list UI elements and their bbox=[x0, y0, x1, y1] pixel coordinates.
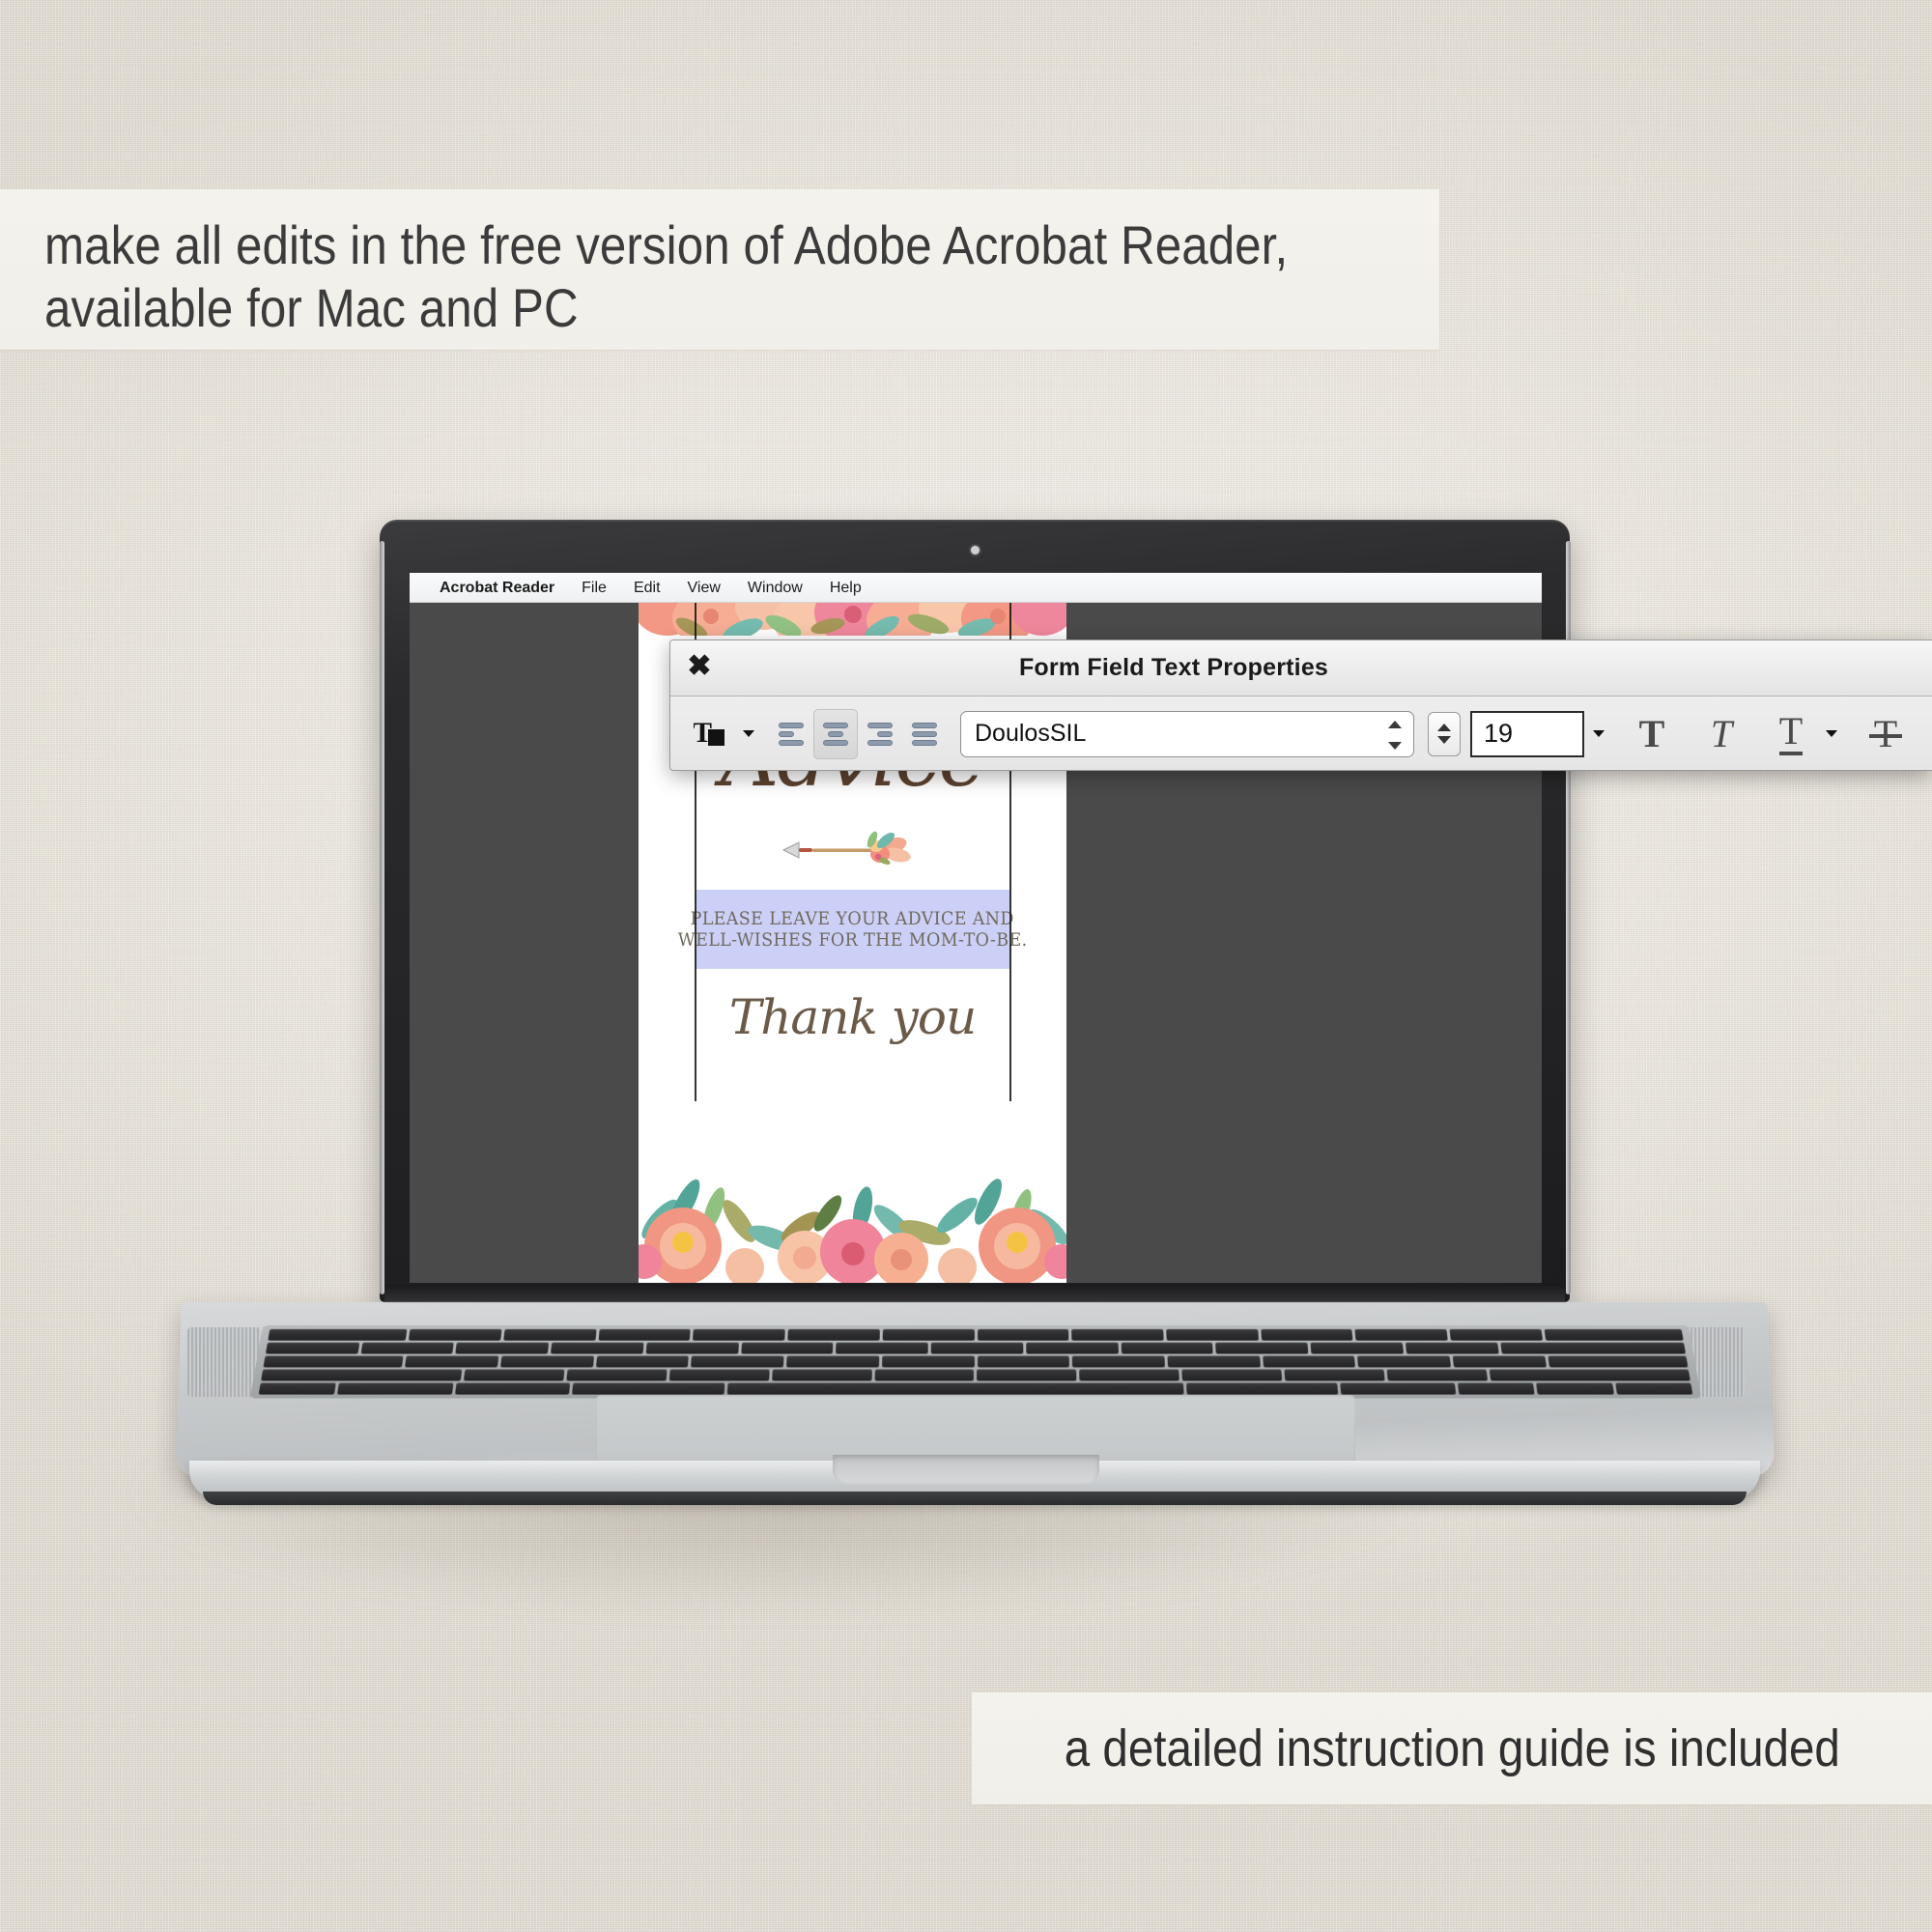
font-size-value: 19 bbox=[1484, 719, 1513, 749]
menu-item-edit[interactable]: Edit bbox=[620, 573, 674, 603]
menu-item-file[interactable]: File bbox=[568, 573, 620, 603]
top-caption-line-1: make all edits in the free version of Ad… bbox=[44, 214, 1272, 277]
menu-item-view[interactable]: View bbox=[674, 573, 734, 603]
text-properties-icon[interactable]: T bbox=[684, 709, 736, 759]
chevron-down-icon bbox=[1826, 730, 1837, 737]
chevron-down-icon bbox=[1593, 730, 1605, 737]
pdf-form-field-advice[interactable]: PLEASE LEAVE YOUR ADVICE AND WELL-WISHES… bbox=[696, 890, 1009, 969]
align-right-button[interactable] bbox=[858, 709, 902, 759]
align-center-icon bbox=[823, 723, 848, 746]
top-caption-banner: make all edits in the free version of Ad… bbox=[0, 189, 1439, 350]
italic-icon: T bbox=[1711, 711, 1732, 756]
form-field-line-2: WELL-WISHES FOR THE MOM-TO-BE. bbox=[678, 929, 1028, 951]
align-justify-icon bbox=[912, 723, 937, 746]
font-size-stepper[interactable] bbox=[1428, 712, 1461, 756]
menu-item-window[interactable]: Window bbox=[734, 573, 816, 603]
keyboard-row-home bbox=[261, 1369, 1690, 1380]
form-field-line-1: PLEASE LEAVE YOUR ADVICE AND bbox=[691, 908, 1014, 929]
strikethrough-button[interactable]: T bbox=[1859, 707, 1913, 761]
stepper-up-icon[interactable] bbox=[1437, 724, 1451, 731]
align-left-icon bbox=[779, 723, 804, 746]
bold-button[interactable]: T bbox=[1625, 707, 1679, 761]
text-properties-dropdown-caret-icon[interactable] bbox=[736, 709, 761, 759]
keyboard-row-numbers bbox=[266, 1343, 1686, 1354]
pdf-thank-you-text: Thank you bbox=[639, 989, 1066, 1045]
font-size-dropdown-caret-icon[interactable] bbox=[1584, 709, 1613, 759]
top-caption-line-2: available for Mac and PC bbox=[44, 277, 1272, 340]
strikethrough-icon: T bbox=[1874, 711, 1897, 756]
menu-bar: Acrobat Reader File Edit View Window Hel… bbox=[410, 573, 1542, 603]
align-justify-button[interactable] bbox=[902, 709, 947, 759]
laptop-keyboard[interactable] bbox=[250, 1325, 1701, 1399]
menu-item-acrobat-reader[interactable]: Acrobat Reader bbox=[426, 573, 568, 603]
font-family-value: DoulosSIL bbox=[975, 720, 1086, 748]
form-field-text-properties-dialog[interactable]: ✖ Form Field Text Properties T bbox=[669, 639, 1932, 771]
laptop-base-lip bbox=[203, 1492, 1747, 1505]
italic-button[interactable]: T bbox=[1694, 707, 1748, 761]
underline-button[interactable]: T bbox=[1764, 707, 1818, 761]
bottom-caption-text: a detailed instruction guide is included bbox=[1064, 1719, 1839, 1778]
font-size-input[interactable]: 19 bbox=[1470, 711, 1584, 757]
arrow-floral-motif-icon bbox=[639, 823, 1066, 877]
underline-dropdown-caret-icon[interactable] bbox=[1818, 709, 1845, 759]
font-family-select[interactable]: DoulosSIL bbox=[960, 711, 1414, 757]
keyboard-row-bottom bbox=[259, 1383, 1693, 1395]
keyboard-row-function bbox=[268, 1329, 1683, 1341]
stepper-down-icon[interactable] bbox=[1437, 736, 1451, 744]
lid-edge-left bbox=[380, 541, 384, 1294]
keyboard-row-qwerty bbox=[264, 1356, 1689, 1368]
menu-item-help[interactable]: Help bbox=[816, 573, 875, 603]
align-center-button[interactable] bbox=[813, 709, 858, 759]
align-left-button[interactable] bbox=[769, 709, 813, 759]
speaker-grille-left bbox=[187, 1327, 261, 1397]
bold-icon: T bbox=[1639, 711, 1665, 756]
bottom-caption-banner: a detailed instruction guide is included bbox=[972, 1692, 1932, 1804]
floral-border-bottom-icon bbox=[639, 1101, 1066, 1283]
underline-icon: T bbox=[1779, 713, 1803, 755]
webcam-icon bbox=[971, 546, 980, 554]
dialog-title: Form Field Text Properties bbox=[669, 654, 1804, 682]
dialog-toolbar: T DoulosSIL bbox=[670, 696, 1932, 771]
laptop-front-notch bbox=[833, 1455, 1099, 1484]
text-properties-glyph-icon: T bbox=[694, 718, 726, 751]
dialog-title-bar: ✖ Form Field Text Properties bbox=[670, 640, 1932, 696]
align-right-icon bbox=[867, 723, 893, 746]
chevron-down-icon bbox=[743, 730, 754, 737]
font-family-stepper-icon[interactable] bbox=[1386, 721, 1404, 750]
